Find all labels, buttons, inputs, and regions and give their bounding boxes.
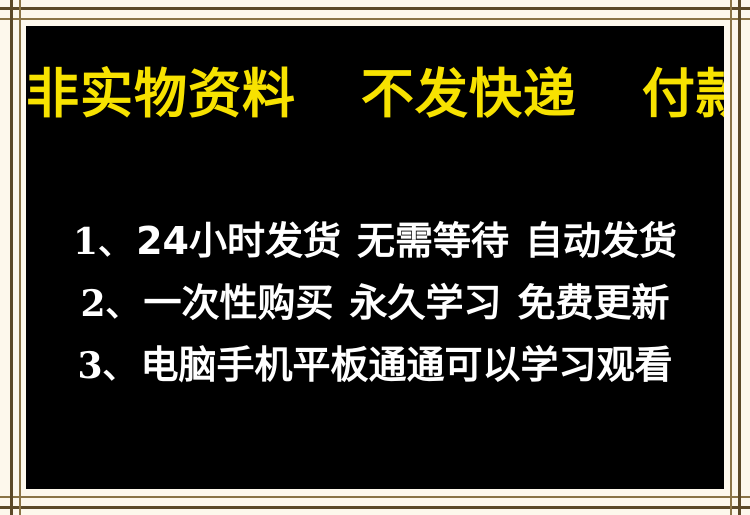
bullet-phrase: 电脑手机平板通通可以学习观看 xyxy=(141,335,673,395)
frame-rule-bottom-inner xyxy=(0,496,750,498)
bullet-separator: 、 xyxy=(106,275,144,335)
bullet-phrase: 无需等待 xyxy=(357,211,509,271)
frame-rule-top-outer xyxy=(0,7,750,10)
frame-rule-right-inner xyxy=(730,0,732,515)
frame-rule-top-inner xyxy=(0,18,750,20)
headline: 非实物资料 不发快递 付款即看 xyxy=(26,66,724,123)
promo-poster: 非实物资料 不发快递 付款即看 1 、 24小时发货 无需等待 自动发货 2 、… xyxy=(0,0,750,515)
list-item: 2 、 一次性购买 永久学习 免费更新 xyxy=(26,273,724,335)
headline-segment-1: 非实物资料 xyxy=(26,66,296,123)
bullet-phrase: 一次性购买 xyxy=(144,273,334,333)
headline-segment-3: 付款即看 xyxy=(642,66,724,123)
bullet-number: 2 xyxy=(80,274,105,334)
frame-rule-left-inner xyxy=(19,0,21,515)
bullet-separator: 、 xyxy=(98,213,136,273)
frame-rule-bottom-outer xyxy=(0,506,750,509)
bullet-number: 1 xyxy=(73,212,98,272)
bullet-number: 3 xyxy=(77,336,102,396)
list-item: 3 、 电脑手机平板通通可以学习观看 xyxy=(26,335,724,397)
bullet-phrase: 24小时发货 xyxy=(136,211,341,271)
bullet-phrase: 自动发货 xyxy=(525,211,677,271)
headline-segment-2: 不发快递 xyxy=(361,66,577,123)
frame-rule-left-outer xyxy=(10,0,13,515)
bullet-phrase: 免费更新 xyxy=(518,273,670,333)
frame-rule-right-outer xyxy=(738,0,741,515)
content-panel: 非实物资料 不发快递 付款即看 1 、 24小时发货 无需等待 自动发货 2 、… xyxy=(26,26,724,489)
list-item: 1 、 24小时发货 无需等待 自动发货 xyxy=(26,211,724,273)
bullet-separator: 、 xyxy=(103,337,141,397)
bullet-list: 1 、 24小时发货 无需等待 自动发货 2 、 一次性购买 永久学习 免费更新… xyxy=(26,211,724,397)
bullet-phrase: 永久学习 xyxy=(350,273,502,333)
